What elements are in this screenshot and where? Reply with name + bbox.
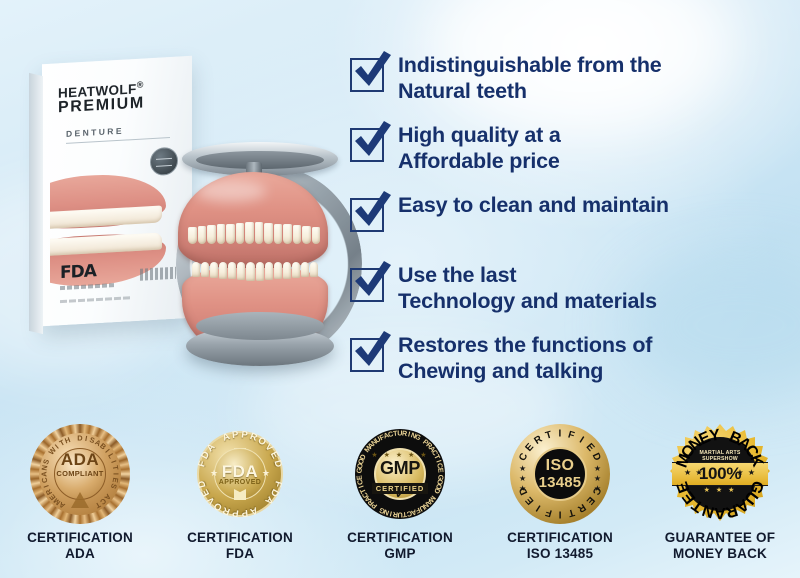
upper-teeth-row: [188, 222, 320, 244]
badge-iso-icon: ★ ★ ★★ ★ ★ISO13485CERTIFIEDCERTIFIED: [510, 424, 610, 524]
certification-ada: ADACOMPLIANTAMERICANS WITH DISABILITIES …: [0, 424, 160, 578]
checkbox-checked-icon: [350, 198, 384, 232]
feature-item-affordable: High quality at a Affordable price: [350, 116, 790, 186]
certification-caption: CERTIFICATION ADA: [27, 530, 133, 563]
feature-text: Indistinguishable from the Natural teeth: [398, 46, 662, 104]
badge-arc-text: GUARANTEE: [670, 424, 770, 524]
product-tier: PREMIUM: [58, 95, 145, 116]
badge-gmp-icon: ★ ★ ★ ★ ★GMPCERTIFIED✔GOOD MANUFACTURING…: [350, 424, 450, 524]
certification-caption: CERTIFICATION GMP: [347, 530, 453, 563]
promo-banner: HEATWOLF® PREMIUM DENTURE FDA: [0, 0, 800, 578]
checkbox-checked-icon: [350, 58, 384, 92]
denture-model: [160, 136, 350, 368]
feature-text: High quality at a Affordable price: [398, 116, 561, 174]
certification-fda: ★★FDAAPPROVEDFDA APPROVEDFDA APPROVEDCER…: [160, 424, 320, 578]
badge-arc-text: GOOD MANUFACTURING PRACTICE: [350, 424, 450, 524]
badge-arc-text: CERTIFIED: [510, 424, 610, 524]
feature-item-function: Restores the functions of Chewing and ta…: [350, 326, 790, 396]
lower-teeth-row: [192, 262, 318, 281]
certification-caption: CERTIFICATION ISO 13485: [507, 530, 613, 563]
badge-arc-text: FDA APPROVED: [190, 424, 290, 524]
feature-list: Indistinguishable from the Natural teeth…: [350, 46, 790, 396]
badge-arc-text: AMERICANS WITH DISABILITIES ACT: [30, 424, 130, 524]
certification-money-back: MARTIAL ARTS SUPERSHOW★ ★★ ★100%★ ★ ★MON…: [640, 424, 800, 578]
badge-ada-icon: ADACOMPLIANTAMERICANS WITH DISABILITIES …: [30, 424, 130, 524]
feature-item-easy-clean: Easy to clean and maintain: [350, 186, 790, 256]
specular-highlight: [196, 180, 266, 202]
box-fineprint: [60, 296, 132, 303]
badge-money-back-icon: MARTIAL ARTS SUPERSHOW★ ★★ ★100%★ ★ ★MON…: [670, 424, 770, 524]
feature-text: Use the last Technology and materials: [398, 256, 657, 314]
certification-caption: CERTIFICATION FDA: [187, 530, 293, 563]
checkbox-checked-icon: [350, 268, 384, 302]
checkbox-checked-icon: [350, 128, 384, 162]
product-category: DENTURE: [66, 126, 124, 139]
checkbox-checked-icon: [350, 338, 384, 372]
certification-caption: GUARANTEE OF MONEY BACK: [665, 530, 775, 563]
registered-mark-icon: ®: [137, 80, 144, 90]
feature-item-natural-look: Indistinguishable from the Natural teeth: [350, 46, 790, 116]
feature-text: Restores the functions of Chewing and ta…: [398, 326, 652, 384]
feature-item-technology: Use the last Technology and materials: [350, 256, 790, 326]
divider: [66, 137, 170, 144]
feature-text: Easy to clean and maintain: [398, 186, 669, 218]
product-image: HEATWOLF® PREMIUM DENTURE FDA: [34, 52, 344, 352]
articulator-base: [186, 326, 334, 366]
certification-gmp: ★ ★ ★ ★ ★GMPCERTIFIED✔GOOD MANUFACTURING…: [320, 424, 480, 578]
certification-iso: ★ ★ ★★ ★ ★ISO13485CERTIFIEDCERTIFIEDCERT…: [480, 424, 640, 578]
badge-fda-icon: ★★FDAAPPROVEDFDA APPROVEDFDA APPROVED: [190, 424, 290, 524]
fda-logo-icon: FDA: [60, 261, 96, 283]
product-box-spine: [29, 73, 43, 334]
certification-strip: ADACOMPLIANTAMERICANS WITH DISABILITIES …: [0, 424, 800, 578]
